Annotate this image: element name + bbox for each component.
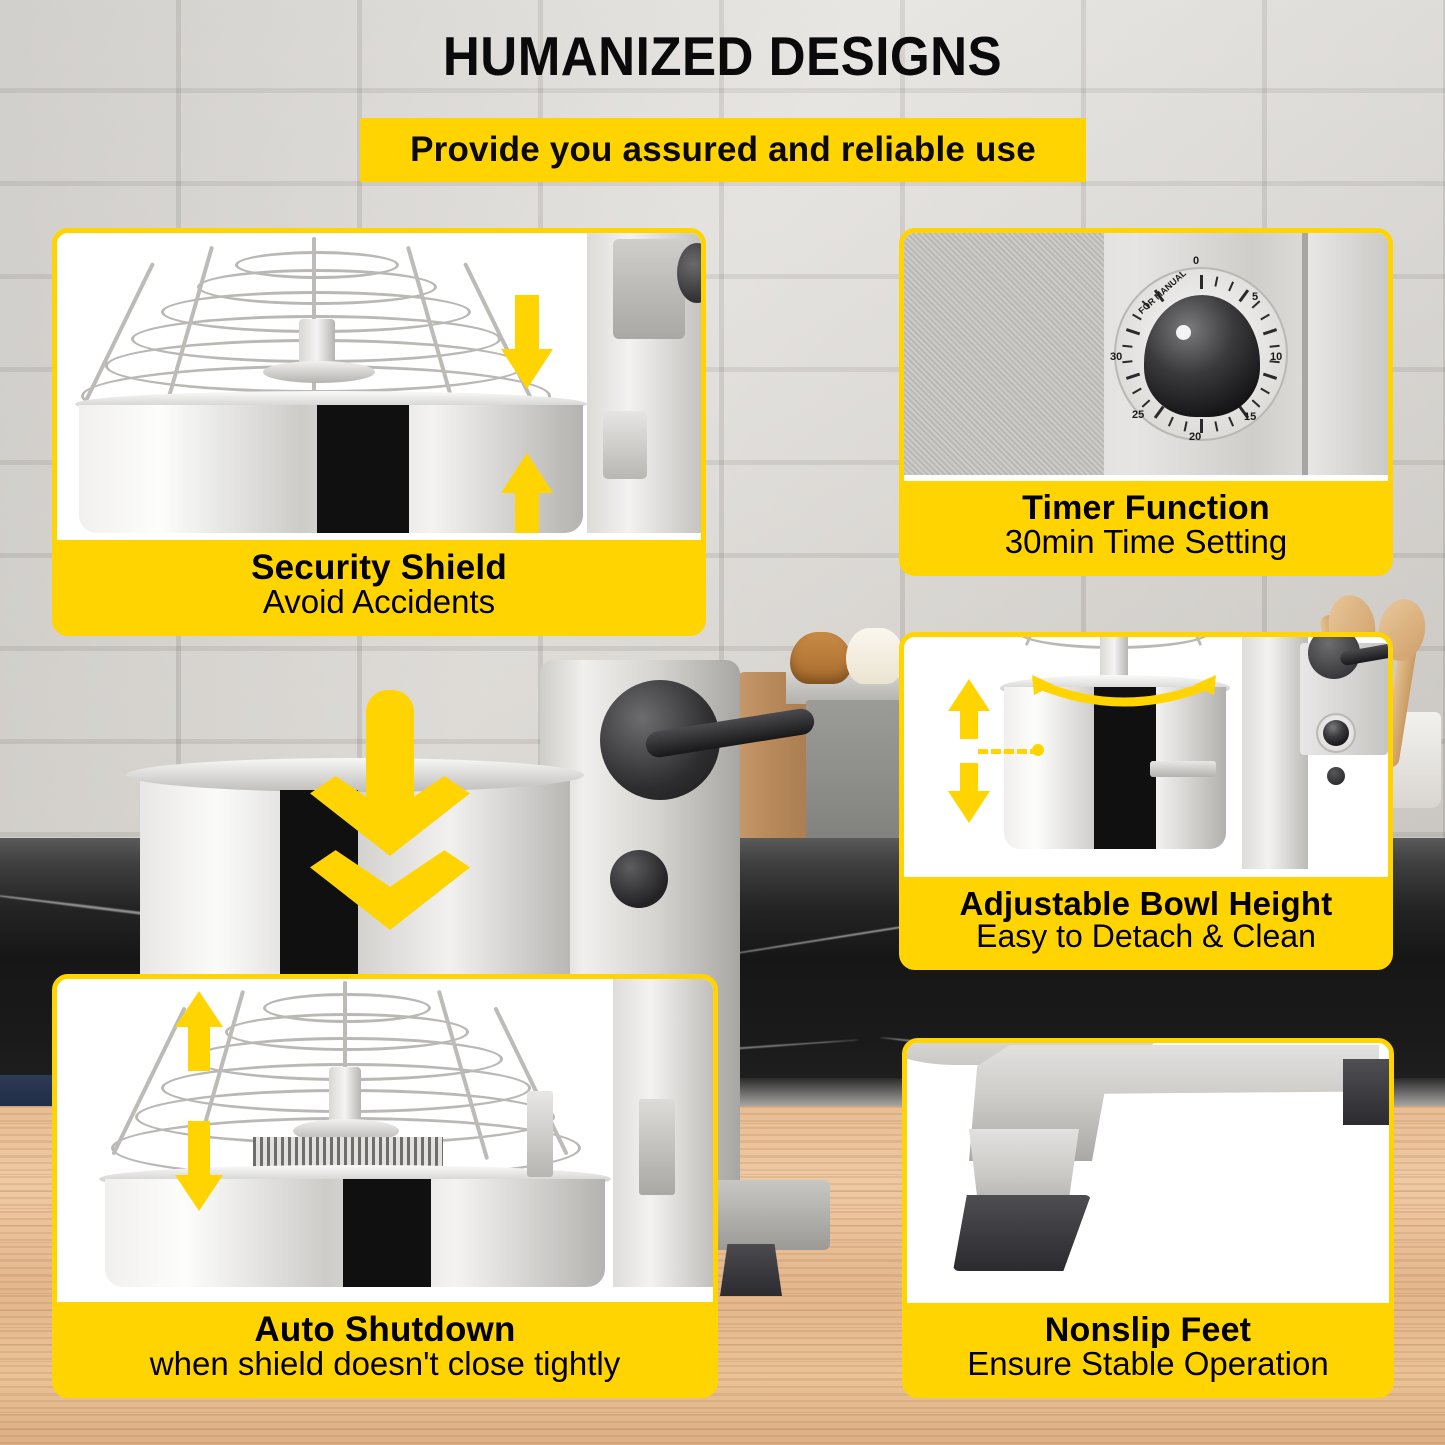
rotate-arrow-icon: [1028, 665, 1220, 711]
dial-label-5: 5: [1252, 291, 1258, 303]
dial-label-15: 15: [1244, 411, 1256, 423]
bread-cream: [846, 628, 904, 684]
panel-title: Auto Shutdown: [63, 1312, 707, 1348]
mixer-foot: [720, 1244, 782, 1296]
big-arrow-down-icon: [300, 670, 480, 930]
nonslip-feet-caption: Nonslip Feet Ensure Stable Operation: [907, 1303, 1389, 1393]
security-shield-caption: Security Shield Avoid Accidents: [57, 540, 701, 631]
panel-auto-shutdown[interactable]: Auto Shutdown when shield doesn't close …: [52, 974, 718, 1398]
panel-nonslip-feet[interactable]: Nonslip Feet Ensure Stable Operation: [902, 1038, 1394, 1398]
dial-label-30: 30: [1110, 351, 1122, 363]
auto-shutdown-caption: Auto Shutdown when shield doesn't close …: [57, 1302, 713, 1393]
power-button-icon: [1327, 767, 1345, 785]
dial-label-0: 0: [1193, 255, 1199, 267]
panel-subtitle: Avoid Accidents: [63, 585, 695, 619]
dial-label-20: 20: [1189, 431, 1201, 443]
panel-title: Adjustable Bowl Height: [910, 887, 1382, 921]
panel-title: Timer Function: [910, 491, 1382, 526]
timer-function-caption: Timer Function 30min Time Setting: [904, 481, 1388, 571]
panel-subtitle: Easy to Detach & Clean: [910, 920, 1382, 953]
timer-photo: 0 5 10 15 20 25 30 FOR MANUAL: [904, 233, 1388, 475]
mixer-control-knob: [610, 850, 668, 908]
page-subtitle: Provide you assured and reliable use: [410, 130, 1036, 170]
panel-subtitle: Ensure Stable Operation: [913, 1347, 1383, 1381]
panel-adjustable-bowl-height[interactable]: Adjustable Bowl Height Easy to Detach & …: [899, 632, 1393, 970]
auto-shutdown-photo: [57, 979, 713, 1287]
dashed-line-icon: [978, 749, 1040, 754]
panel-timer-function[interactable]: 0 5 10 15 20 25 30 FOR MANUAL Timer Func…: [899, 228, 1393, 576]
dial-label-25: 25: [1132, 409, 1144, 421]
panel-title: Nonslip Feet: [913, 1313, 1383, 1348]
dial-indicator-dot: [1176, 325, 1191, 340]
rubber-foot-icon: [953, 1195, 1091, 1271]
adjustable-bowl-photo: [904, 637, 1388, 869]
mixer-hub: [263, 361, 375, 383]
panel-security-shield[interactable]: Security Shield Avoid Accidents: [52, 228, 706, 636]
nonslip-feet-photo: [907, 1043, 1389, 1291]
dial-label-10: 10: [1270, 351, 1282, 363]
panel-subtitle: when shield doesn't close tightly: [63, 1347, 707, 1381]
page-title: HUMANIZED DESIGNS: [51, 24, 1395, 88]
panel-title: Security Shield: [63, 550, 695, 586]
panel-subtitle: 30min Time Setting: [910, 525, 1382, 559]
subtitle-banner: Provide you assured and reliable use: [360, 118, 1086, 182]
security-shield-photo: [57, 233, 701, 533]
adjustable-bowl-caption: Adjustable Bowl Height Easy to Detach & …: [904, 877, 1388, 965]
